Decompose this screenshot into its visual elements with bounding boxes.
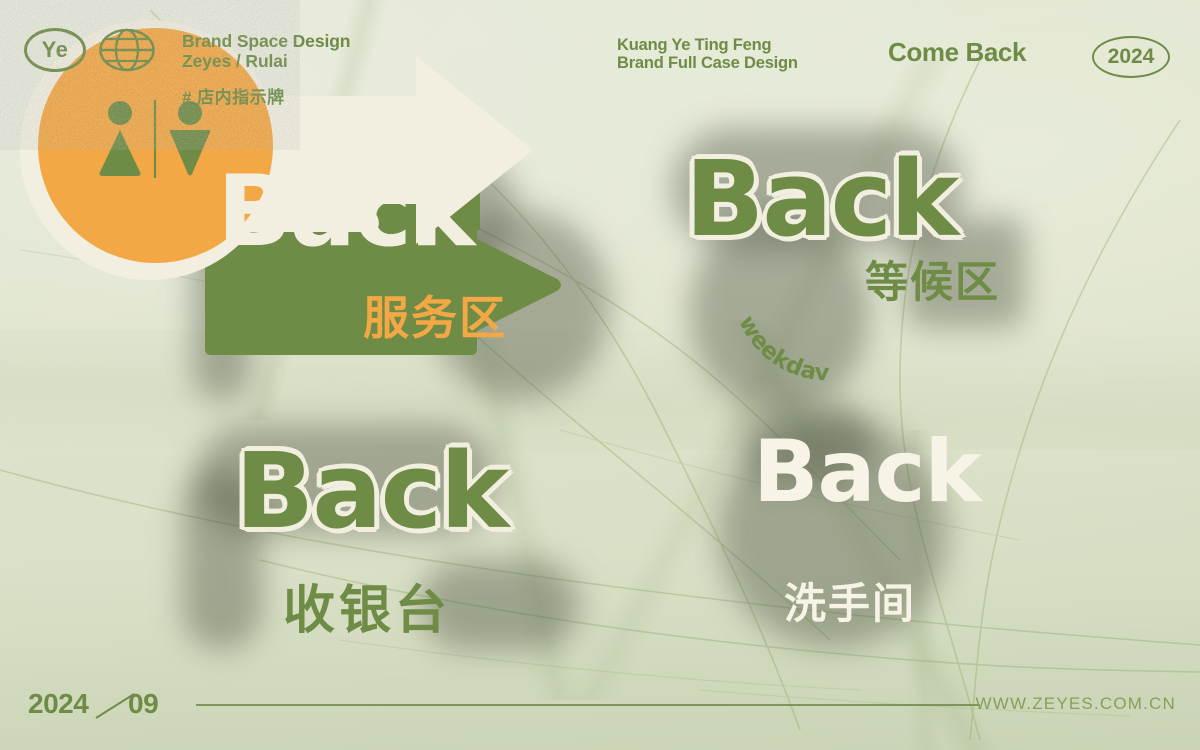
project-credit: Kuang Ye Ting Feng Brand Full Case Desig… <box>617 36 798 73</box>
poster-footer: 2024 09 WWW.ZEYES.COM.CN <box>0 670 1200 750</box>
project-line-2: Brand Full Case Design <box>617 54 798 72</box>
footer-year: 2024 <box>28 688 88 720</box>
footer-month: 09 <box>128 688 158 720</box>
sign-cashier-back-word: Back <box>235 430 507 552</box>
female-restroom-body <box>169 130 210 176</box>
sign-restroom-label: 洗手间 <box>784 570 916 631</box>
project-line-1: Kuang Ye Ting Feng <box>617 36 798 54</box>
ye-monogram-icon: Ye <box>24 28 86 72</box>
year-badge: 2024 <box>1092 36 1170 78</box>
studio-credit: Brand Space Design Zeyes / Rulai <box>182 32 350 71</box>
poster-canvas: Ye Brand Space Design Zeyes / Rulai # 店内… <box>0 0 1200 750</box>
poster-header: Ye Brand Space Design Zeyes / Rulai # 店内… <box>0 0 1200 120</box>
brand-logo: Ye <box>24 28 156 72</box>
studio-line-1: Brand Space Design <box>182 32 350 52</box>
svg-text:weekday: weekday <box>734 311 830 380</box>
globe-icon <box>98 28 156 72</box>
sign-service-area-label: 服务区 <box>363 282 507 348</box>
male-restroom-body <box>99 130 140 176</box>
footer-url: WWW.ZEYES.COM.CN <box>975 694 1176 714</box>
sign-waiting-area-back-word: Back <box>685 138 957 260</box>
footer-divider <box>196 704 980 706</box>
sign-cashier-label: 收银台 <box>283 568 451 643</box>
sign-waiting-area-sublabel: weekday <box>734 300 894 380</box>
studio-line-2: Zeyes / Rulai <box>182 52 350 72</box>
sign-service-area-back-word: Back <box>217 155 473 269</box>
weekday-textpath: weekday <box>734 311 830 380</box>
section-hashtag: # 店内指示牌 <box>182 88 285 107</box>
campaign-title: Come Back <box>888 38 1026 67</box>
sign-restroom-back-word: Back <box>753 422 981 522</box>
